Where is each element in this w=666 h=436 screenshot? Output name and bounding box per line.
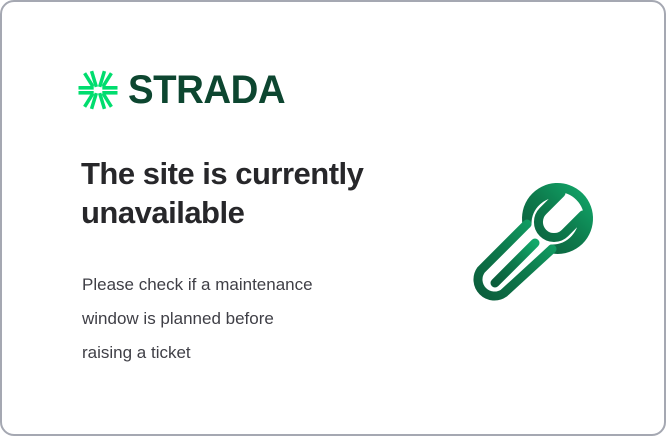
page-description: Please check if a maintenance window is … — [82, 268, 402, 370]
maintenance-notice-card: STRADA The site is currently unavailable… — [0, 0, 666, 436]
strada-asterisk-icon — [78, 70, 118, 110]
wrench-icon — [457, 152, 617, 312]
brand-lockup: STRADA — [78, 70, 292, 110]
page-title: The site is currently unavailable — [81, 154, 421, 232]
brand-wordmark: STRADA — [128, 70, 285, 110]
description-line: Please check if a maintenance — [82, 268, 402, 302]
description-line: window is planned before — [82, 302, 402, 336]
description-line: raising a ticket — [82, 336, 402, 370]
